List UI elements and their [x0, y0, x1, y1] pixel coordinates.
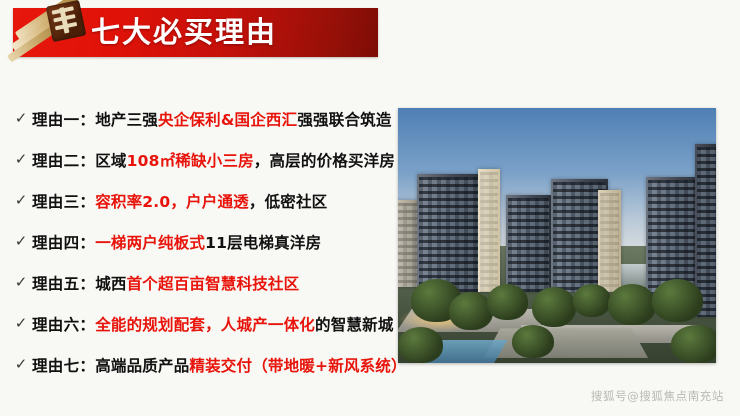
reason-text: 容积率2.0，户户通透，低密社区: [95, 190, 327, 212]
reason-label: 理由七：: [32, 354, 95, 376]
reason-text: 城西首个超百亩智慧科技社区: [95, 272, 299, 294]
reason-text: 地产三强央企保利&国企西汇强强联合筑造: [95, 108, 391, 130]
reason-plain: 11层电梯真洋房: [205, 234, 321, 252]
reason-plain: 城西: [95, 275, 126, 293]
reason-plain: ，高层的价格买洋房: [254, 152, 395, 170]
reason-plain: 强强联合筑造: [297, 111, 391, 129]
slide-canvas: 七大必买理由 ✓理由一：地产三强央企保利&国企西汇强强联合筑造✓理由二：区域10…: [0, 0, 740, 416]
check-icon: ✓: [10, 357, 32, 372]
tree: [671, 325, 716, 363]
plaza: [484, 328, 649, 358]
reason-row-7: ✓理由七：高端品质产品精装交付（带地暖+新风系统）: [0, 344, 420, 385]
tree: [652, 279, 703, 322]
building: [506, 195, 551, 292]
tree: [573, 284, 611, 317]
reason-plain: 高端品质产品: [95, 357, 189, 375]
reason-text: 全能的规划配套，人城产一体化的智慧新城: [95, 313, 393, 335]
watermark: 搜狐号@搜狐焦点南充站: [591, 388, 724, 404]
reason-highlight: 精装交付（带地暖+新风系统）: [189, 357, 406, 375]
reason-label: 理由三：: [32, 190, 95, 212]
tree: [608, 284, 656, 325]
tree: [487, 284, 528, 320]
reason-text: 高端品质产品精装交付（带地暖+新风系统）: [95, 354, 407, 376]
tree: [532, 287, 577, 328]
tree: [398, 327, 443, 363]
reason-label: 理由二：: [32, 149, 95, 171]
title-banner: 七大必买理由: [13, 8, 378, 57]
reason-plain: ，低密社区: [249, 193, 328, 211]
reason-row-4: ✓理由四：一梯两户纯板式11层电梯真洋房: [0, 221, 420, 262]
reason-text: 一梯两户纯板式11层电梯真洋房: [95, 231, 321, 253]
building: [598, 190, 620, 292]
check-icon: ✓: [10, 152, 32, 167]
reason-highlight: 全能的规划配套，人城产一体化: [95, 316, 315, 334]
tree: [512, 325, 553, 358]
reason-label: 理由一：: [32, 108, 95, 130]
page-title: 七大必买理由: [91, 8, 277, 57]
reason-label: 理由四：: [32, 231, 95, 253]
reason-plain: 地产三强: [95, 111, 158, 129]
project-rendering-photo: [398, 108, 716, 363]
reason-row-3: ✓理由三：容积率2.0，户户通透，低密社区: [0, 180, 420, 221]
reason-highlight: 首个超百亩智慧科技社区: [127, 275, 300, 293]
reason-row-1: ✓理由一：地产三强央企保利&国企西汇强强联合筑造: [0, 98, 420, 139]
reason-highlight: 108㎡稀缺小三房: [127, 152, 254, 170]
reason-label: 理由六：: [32, 313, 95, 335]
golden-ribbon-seal-icon: [5, 1, 101, 63]
reason-highlight: 央企保利&国企西汇: [158, 111, 297, 129]
check-icon: ✓: [10, 193, 32, 208]
reason-row-5: ✓理由五：城西首个超百亩智慧科技社区: [0, 262, 420, 303]
reason-highlight: 容积率2.0，户户通透: [95, 193, 249, 211]
building: [478, 169, 500, 291]
building: [417, 174, 481, 291]
reason-row-2: ✓理由二：区域108㎡稀缺小三房，高层的价格买洋房: [0, 139, 420, 180]
reason-plain: 区域: [95, 152, 126, 170]
reason-list: ✓理由一：地产三强央企保利&国企西汇强强联合筑造✓理由二：区域108㎡稀缺小三房…: [0, 98, 420, 385]
check-icon: ✓: [10, 111, 32, 126]
check-icon: ✓: [10, 234, 32, 249]
reason-plain: 的智慧新城: [315, 316, 394, 334]
reason-label: 理由五：: [32, 272, 95, 294]
reason-text: 区域108㎡稀缺小三房，高层的价格买洋房: [95, 149, 395, 171]
reason-highlight: 一梯两户纯板式: [95, 234, 205, 252]
reason-row-6: ✓理由六：全能的规划配套，人城产一体化的智慧新城: [0, 303, 420, 344]
check-icon: ✓: [10, 316, 32, 331]
check-icon: ✓: [10, 275, 32, 290]
